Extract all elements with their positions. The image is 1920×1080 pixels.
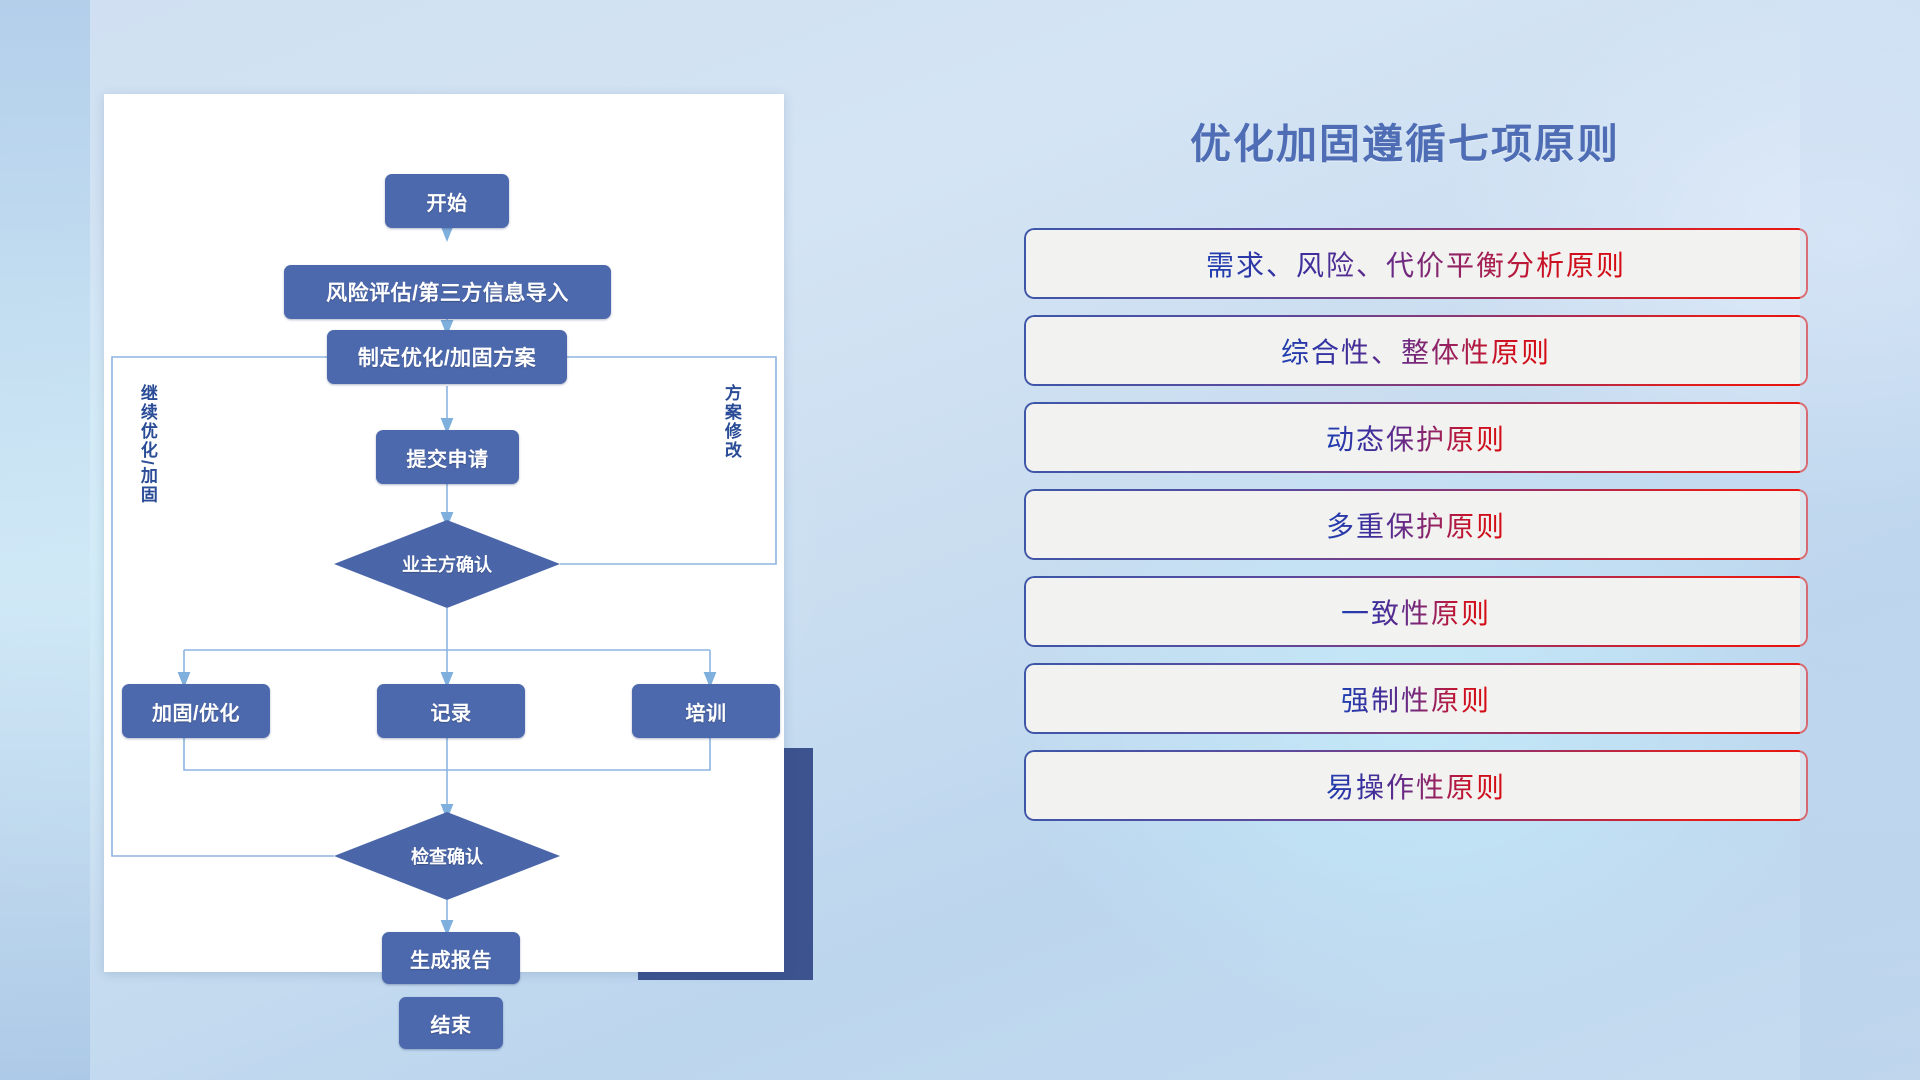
principle-label: 一致性原则 [1341,592,1491,632]
flow-node-label: 制定优化/加固方案 [358,342,536,372]
flow-node-start[interactable]: 开始 [385,174,509,228]
flowchart-card: 开始 风险评估/第三方信息导入 制定优化/加固方案 提交申请 业主方确认 加固/… [104,94,784,972]
flowchart: 开始 风险评估/第三方信息导入 制定优化/加固方案 提交申请 业主方确认 加固/… [104,94,784,972]
principle-label: 易操作性原则 [1326,766,1506,806]
flow-node-training[interactable]: 培训 [632,684,780,738]
flow-edge-label-right: 方案修改 [722,384,740,524]
principle-label: 综合性、整体性原则 [1281,331,1551,371]
principle-label: 需求、风险、代价平衡分析原则 [1206,244,1626,284]
slide-canvas: 开始 风险评估/第三方信息导入 制定优化/加固方案 提交申请 业主方确认 加固/… [0,0,1920,1080]
flow-node-record[interactable]: 记录 [377,684,525,738]
flow-node-label: 生成报告 [410,944,492,973]
flow-node-risk-assessment[interactable]: 风险评估/第三方信息导入 [284,265,611,319]
flow-node-label: 结束 [431,1009,472,1038]
flow-node-label: 开始 [427,187,468,216]
flow-node-submit[interactable]: 提交申请 [376,430,519,484]
flow-edge-label-left: 继续优化/加固 [138,384,156,564]
flow-node-label: 风险评估/第三方信息导入 [326,277,569,307]
principle-item-2[interactable]: 综合性、整体性原则 [1024,315,1808,386]
flow-node-label: 加固/优化 [152,697,240,726]
principle-label: 动态保护原则 [1326,418,1506,458]
principle-item-7[interactable]: 易操作性原则 [1024,750,1808,821]
flow-node-reinforce[interactable]: 加固/优化 [122,684,270,738]
flow-node-label: 提交申请 [407,443,489,472]
flow-node-report[interactable]: 生成报告 [382,932,520,984]
flow-node-label: 培训 [686,697,727,726]
principle-item-5[interactable]: 一致性原则 [1024,576,1808,647]
principle-label: 多重保护原则 [1326,505,1506,545]
flow-node-label: 检查确认 [411,843,483,869]
principle-item-4[interactable]: 多重保护原则 [1024,489,1808,560]
flow-node-label: 业主方确认 [402,551,492,577]
principle-item-3[interactable]: 动态保护原则 [1024,402,1808,473]
principle-label: 强制性原则 [1341,679,1491,719]
principle-item-6[interactable]: 强制性原则 [1024,663,1808,734]
flow-node-label: 记录 [431,697,472,726]
flow-node-plan[interactable]: 制定优化/加固方案 [327,330,567,384]
page-title: 优化加固遵循七项原则 [1055,110,1755,170]
principle-item-1[interactable]: 需求、风险、代价平衡分析原则 [1024,228,1808,299]
principles-list: 需求、风险、代价平衡分析原则 综合性、整体性原则 动态保护原则 多重保护原则 一… [1024,228,1808,837]
flow-node-end[interactable]: 结束 [399,997,503,1049]
